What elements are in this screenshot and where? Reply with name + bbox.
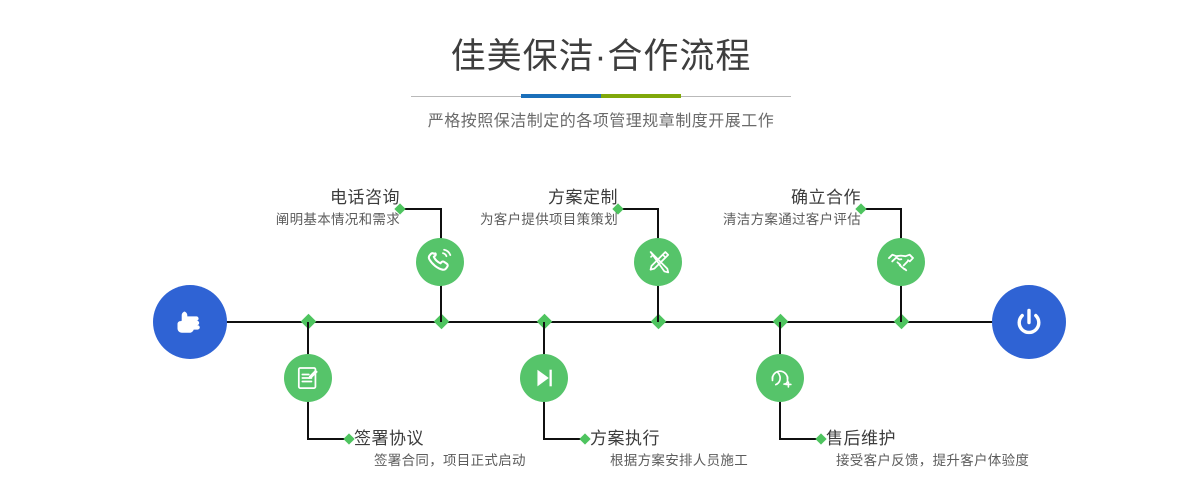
step-icon-5[interactable] <box>877 238 925 286</box>
step-label-5: 确立合作 清洁方案通过客户评估 <box>520 186 861 231</box>
title-divider <box>411 90 791 104</box>
step-icon-2[interactable] <box>284 354 332 402</box>
step-icon-4[interactable] <box>520 354 568 402</box>
step-title-6: 售后维护 <box>826 427 1186 450</box>
end-node[interactable] <box>992 285 1066 359</box>
phone-call-icon <box>425 247 455 277</box>
pointing-hand-icon <box>170 302 210 342</box>
step-title-5: 确立合作 <box>520 186 861 209</box>
headset-support-icon <box>766 364 794 392</box>
leader-step-5 <box>861 208 902 210</box>
cooperation-process-infographic: 佳美保洁·合作流程 严格按照保洁制定的各项管理规章制度开展工作 <box>0 0 1202 502</box>
leader-dot-step-2 <box>343 433 354 444</box>
power-button-icon <box>1009 302 1049 342</box>
divider-segment-green <box>601 94 681 98</box>
step-icon-3[interactable] <box>634 238 682 286</box>
header: 佳美保洁·合作流程 严格按照保洁制定的各项管理规章制度开展工作 <box>0 34 1202 134</box>
divider-segment-blue <box>521 94 601 98</box>
handshake-icon <box>886 247 916 277</box>
step-icon-6[interactable] <box>756 354 804 402</box>
step-icon-1[interactable] <box>416 238 464 286</box>
start-node[interactable] <box>153 285 227 359</box>
pencil-ruler-icon <box>644 248 672 276</box>
play-execute-icon <box>530 364 558 392</box>
page-subtitle: 严格按照保洁制定的各项管理规章制度开展工作 <box>0 110 1202 134</box>
document-edit-icon <box>294 364 322 392</box>
step-label-6: 售后维护 接受客户反馈，提升客户体验度 <box>826 427 1186 472</box>
step-desc-5: 清洁方案通过客户评估 <box>520 209 861 231</box>
step-desc-6: 接受客户反馈，提升客户体验度 <box>826 450 1186 472</box>
page-title: 佳美保洁·合作流程 <box>0 34 1202 80</box>
